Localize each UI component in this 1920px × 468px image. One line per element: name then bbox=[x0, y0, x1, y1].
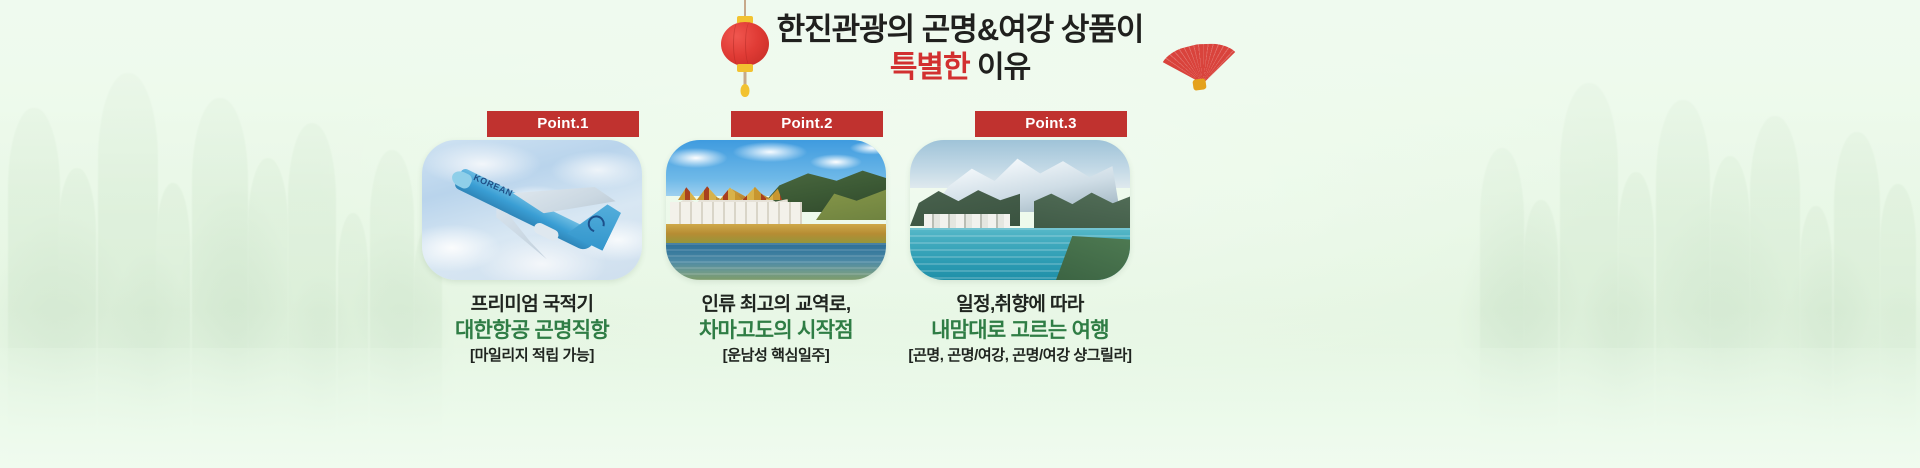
page-title-tail: 이유 bbox=[977, 51, 1030, 84]
promo-banner: 한진관광의 곤명&여강 상품이 특별한 이유 Point.1 Point.2 P… bbox=[0, 0, 1920, 468]
caption-3-line3: [곤명, 곤명/여강, 곤명/여강 샹그릴라] bbox=[865, 345, 1175, 368]
caption-3-line1: 일정,취향에 따라 bbox=[865, 292, 1175, 317]
point-card-2[interactable] bbox=[666, 140, 886, 280]
point-badge-2: Point.2 bbox=[731, 111, 883, 137]
point-card-1[interactable]: KOREAN bbox=[422, 140, 642, 280]
caption-3-line2: 내맘대로 고르는 여행 bbox=[865, 317, 1175, 345]
page-title-highlight: 특별한 bbox=[890, 51, 970, 84]
point-image-1[interactable]: KOREAN bbox=[422, 140, 642, 280]
chinese-lantern-icon bbox=[717, 10, 773, 94]
page-title-line1: 한진관광의 곤명&여강 상품이 bbox=[777, 14, 1144, 47]
point-badge-3: Point.3 bbox=[975, 111, 1127, 137]
point-card-3[interactable] bbox=[910, 140, 1130, 280]
page-title-line2: 특별한 이유 bbox=[777, 52, 1144, 84]
point-caption-3: 일정,취향에 따라 내맘대로 고르는 여행 [곤명, 곤명/여강, 곤명/여강 … bbox=[865, 292, 1175, 367]
chinese-folding-fan-icon bbox=[1161, 38, 1239, 90]
title-block: 한진관광의 곤명&여강 상품이 특별한 이유 bbox=[777, 14, 1144, 83]
point-image-3[interactable] bbox=[910, 140, 1130, 280]
banner-header: 한진관광의 곤명&여강 상품이 특별한 이유 bbox=[0, 14, 1920, 83]
point-badge-1: Point.1 bbox=[487, 111, 639, 137]
point-image-2[interactable] bbox=[666, 140, 886, 280]
